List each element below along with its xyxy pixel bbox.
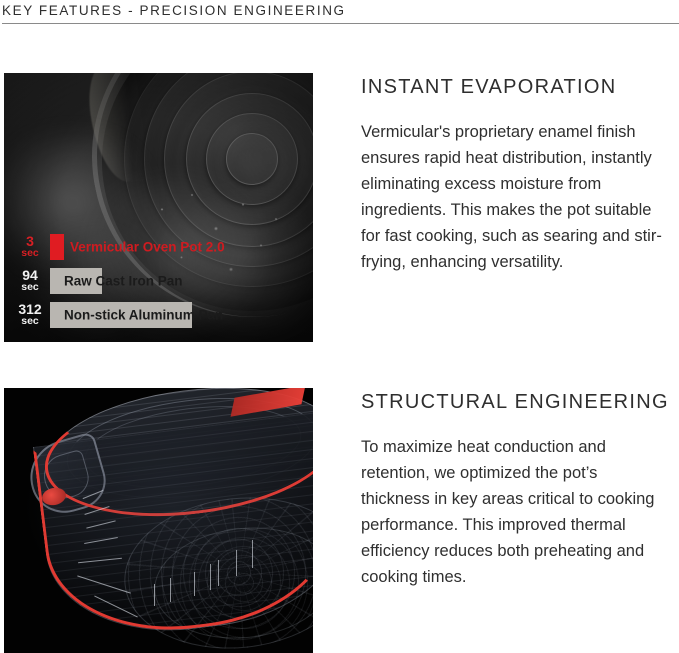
page-header: KEY FEATURES - PRECISION ENGINEERING xyxy=(0,0,679,24)
dimension-leader xyxy=(84,537,118,544)
dimension-leader xyxy=(218,560,219,586)
comparison-row-vermicular: 3 sec Vermicular Oven Pot 2.0 xyxy=(10,232,306,262)
feature-structural-engineering: STRUCTURAL ENGINEERING To maximize heat … xyxy=(4,388,675,653)
dimension-leader xyxy=(170,578,171,602)
feature-body-instant-evaporation: Vermicular's proprietary enamel finish e… xyxy=(361,119,666,275)
comparison-label-cast-iron: Raw Cast Iron Pan xyxy=(58,274,183,289)
comparison-time-vermicular: 3 sec xyxy=(10,235,50,259)
comparison-time-cast-iron: 94 sec xyxy=(10,269,50,293)
comparison-time-aluminum: 312 sec xyxy=(10,303,50,327)
page-title: KEY FEATURES - PRECISION ENGINEERING xyxy=(2,3,679,19)
feature-image-cad-wireframe xyxy=(4,388,313,653)
feature-body-structural-engineering: To maximize heat conduction and retentio… xyxy=(361,434,666,590)
evaporation-comparison-chart: 3 sec Vermicular Oven Pot 2.0 94 sec Raw… xyxy=(10,232,306,330)
comparison-time-value: 3 xyxy=(10,235,50,247)
feature-instant-evaporation: 3 sec Vermicular Oven Pot 2.0 94 sec Raw… xyxy=(4,73,675,342)
comparison-time-unit: sec xyxy=(10,315,50,327)
feature-copy-instant-evaporation: INSTANT EVAPORATION Vermicular's proprie… xyxy=(313,73,675,342)
dimension-leader xyxy=(83,490,104,499)
dimension-leader xyxy=(210,564,211,590)
comparison-time-unit: sec xyxy=(10,247,50,259)
comparison-time-unit: sec xyxy=(10,281,50,293)
comparison-bar-aluminum: Non-stick Aluminum Pan xyxy=(50,302,192,328)
dimension-leader xyxy=(94,596,138,618)
dimension-leader xyxy=(194,572,195,596)
dimension-leader xyxy=(252,540,253,568)
dimension-leader xyxy=(77,575,131,593)
comparison-row-cast-iron: 94 sec Raw Cast Iron Pan xyxy=(10,266,306,296)
comparison-bar-cast-iron: Raw Cast Iron Pan xyxy=(50,268,102,294)
header-divider xyxy=(2,23,679,24)
comparison-time-value: 94 xyxy=(10,269,50,281)
comparison-label-aluminum: Non-stick Aluminum Pan xyxy=(58,308,223,323)
dimension-leader xyxy=(78,558,122,564)
feature-heading-structural-engineering: STRUCTURAL ENGINEERING xyxy=(361,390,675,414)
dimension-leader xyxy=(236,550,237,576)
comparison-bar-vermicular: Vermicular Oven Pot 2.0 xyxy=(50,234,64,260)
feature-heading-instant-evaporation: INSTANT EVAPORATION xyxy=(361,75,675,99)
comparison-row-aluminum: 312 sec Non-stick Aluminum Pan xyxy=(10,300,306,330)
dimension-leader xyxy=(84,506,109,515)
cad-wireframe-scene xyxy=(4,388,313,653)
comparison-time-value: 312 xyxy=(10,303,50,315)
dimension-leader xyxy=(154,584,155,606)
feature-copy-structural-engineering: STRUCTURAL ENGINEERING To maximize heat … xyxy=(313,388,675,653)
comparison-label-vermicular: Vermicular Oven Pot 2.0 xyxy=(64,240,225,255)
dimension-leader xyxy=(86,520,115,528)
cad-dimension-callouts xyxy=(4,388,313,653)
feature-image-steaming-pot: 3 sec Vermicular Oven Pot 2.0 94 sec Raw… xyxy=(4,73,313,342)
